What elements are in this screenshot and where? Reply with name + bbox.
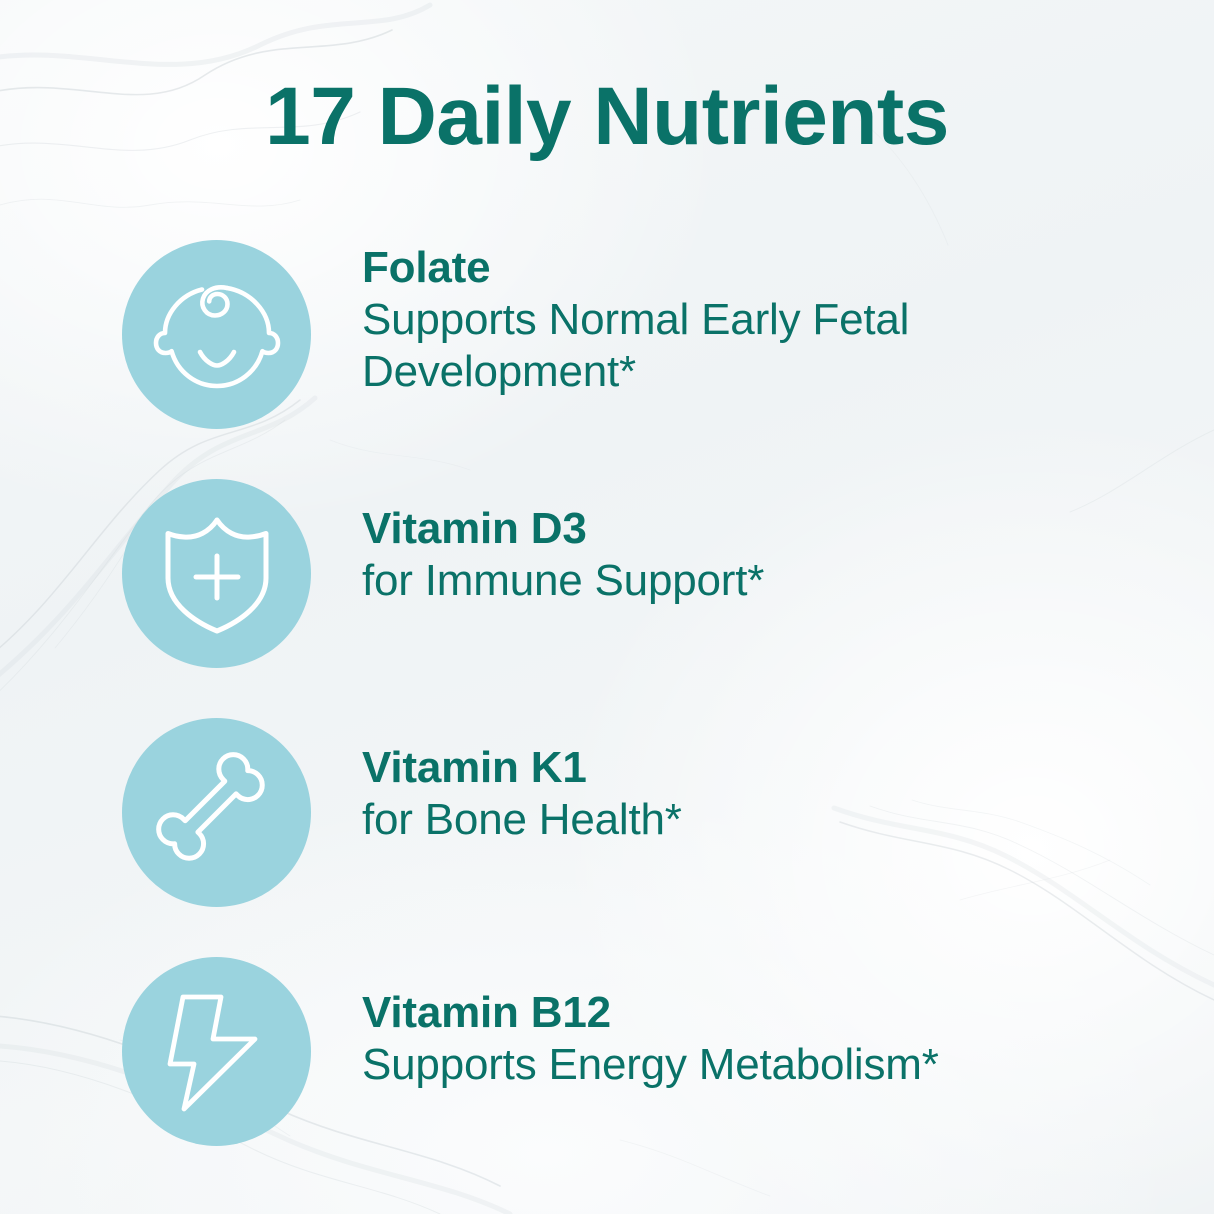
nutrient-description: for Bone Health* (362, 794, 1172, 846)
nutrient-icon-badge (122, 718, 311, 907)
list-item: Vitamin B12 Supports Energy Metabolism* (0, 957, 1214, 1196)
baby-face-icon (153, 271, 281, 399)
nutrient-text-block: Vitamin B12 Supports Energy Metabolism* (362, 987, 1172, 1091)
nutrient-name: Vitamin B12 (362, 987, 1172, 1039)
nutrient-text-block: Vitamin D3 for Immune Support* (362, 503, 1172, 607)
list-item: Vitamin K1 for Bone Health* (0, 718, 1214, 957)
nutrient-icon-badge (122, 479, 311, 668)
page-title: 17 Daily Nutrients (0, 72, 1214, 162)
nutrient-list: Folate Supports Normal Early Fetal Devel… (0, 240, 1214, 1196)
nutrient-text-block: Folate Supports Normal Early Fetal Devel… (362, 242, 1172, 398)
list-item: Folate Supports Normal Early Fetal Devel… (0, 240, 1214, 479)
lightning-bolt-icon (157, 992, 277, 1112)
list-item: Vitamin D3 for Immune Support* (0, 479, 1214, 718)
nutrient-icon-badge (122, 240, 311, 429)
nutrient-description: Supports Normal Early Fetal Development* (362, 294, 1172, 398)
nutrient-name: Vitamin D3 (362, 503, 1172, 555)
shield-plus-icon (155, 512, 279, 636)
nutrient-description: for Immune Support* (362, 555, 1172, 607)
nutrient-name: Vitamin K1 (362, 742, 1172, 794)
nutrient-name: Folate (362, 242, 1172, 294)
nutrient-benefits-graphic: 17 Daily Nutrients Folate Supp (0, 0, 1214, 1214)
nutrient-text-block: Vitamin K1 for Bone Health* (362, 742, 1172, 846)
nutrient-description: Supports Energy Metabolism* (362, 1039, 1172, 1091)
bone-icon (154, 750, 280, 876)
nutrient-icon-badge (122, 957, 311, 1146)
